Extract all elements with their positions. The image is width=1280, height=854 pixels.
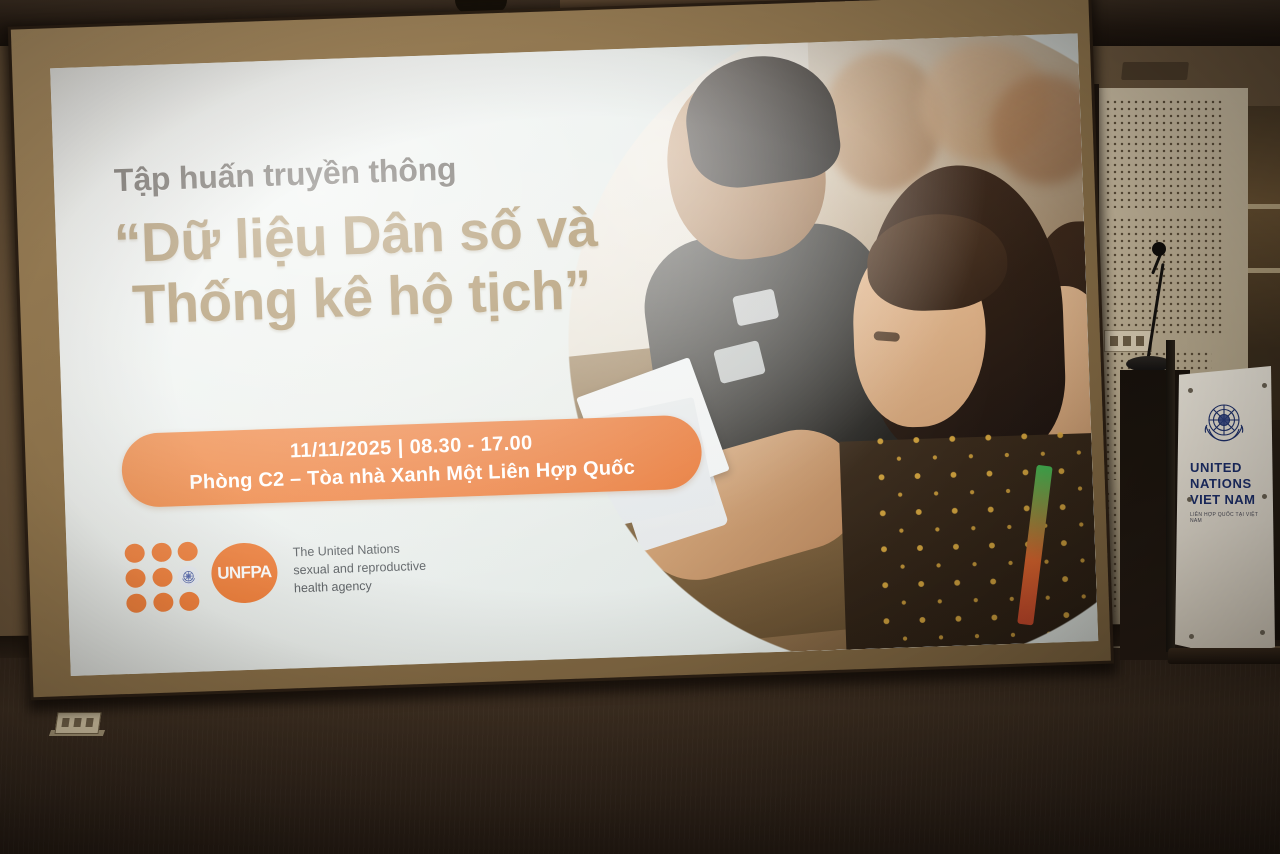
banner-rivet	[1260, 630, 1265, 635]
perforation-pattern	[1106, 100, 1224, 208]
slide-photo	[558, 33, 1098, 658]
microphone-head-icon	[1152, 242, 1166, 256]
banner-rivet	[1189, 634, 1194, 639]
unfpa-tagline: The United Nations sexual and reproducti…	[293, 540, 427, 598]
un-emblem-dot	[179, 567, 200, 587]
screen-surface: Tập huấn truyền thông “Dữ liệu Dân số và…	[50, 33, 1098, 676]
banner-rivet	[1188, 388, 1193, 393]
wall-vent	[1121, 62, 1189, 80]
unfpa-dot-grid	[124, 542, 200, 610]
conference-room-scene: Tập huấn truyền thông “Dữ liệu Dân số và…	[0, 0, 1280, 854]
event-datetime: 11/11/2025 | 08.30 - 17.00	[289, 432, 533, 463]
un-emblem-banner-icon	[1196, 395, 1252, 451]
un-emblem-icon	[177, 566, 200, 588]
banner-subtext: LIÊN HỢP QUỐC TẠI VIỆT NAM	[1190, 512, 1268, 524]
projection-screen: Tập huấn truyền thông “Dữ liệu Dân số và…	[0, 0, 1124, 718]
banner-base-stand	[1168, 648, 1280, 664]
screen-frame: Tập huấn truyền thông “Dữ liệu Dân số và…	[11, 0, 1111, 697]
banner-rivet	[1187, 497, 1192, 502]
perforation-pattern	[1106, 218, 1224, 336]
banner-line-3: VIET NAM	[1190, 492, 1270, 508]
slide-headline: “Dữ liệu Dân số và Thống kê hộ tịch”	[113, 192, 737, 336]
photo-arc-mask	[558, 33, 1098, 658]
slide-kicker: Tập huấn truyền thông	[113, 141, 732, 199]
banner-line-1: UNITED	[1190, 460, 1264, 476]
unfpa-wordmark: UNFPA	[217, 562, 272, 584]
banner-line-2: NATIONS	[1190, 476, 1264, 492]
event-venue: Phòng C2 – Tòa nhà Xanh Một Liên Hợp Quố…	[189, 456, 635, 494]
unfpa-wordmark-circle: UNFPA	[210, 542, 278, 604]
banner-pole	[1166, 340, 1175, 652]
slide-text-block: Tập huấn truyền thông “Dữ liệu Dân số và…	[111, 141, 737, 336]
banner-rivet	[1262, 494, 1267, 499]
presentation-slide: Tập huấn truyền thông “Dữ liệu Dân số và…	[50, 33, 1098, 676]
banner-rivet	[1262, 383, 1267, 388]
unfpa-logo-lockup: UNFPA The United Nations sexual and repr…	[124, 534, 427, 610]
